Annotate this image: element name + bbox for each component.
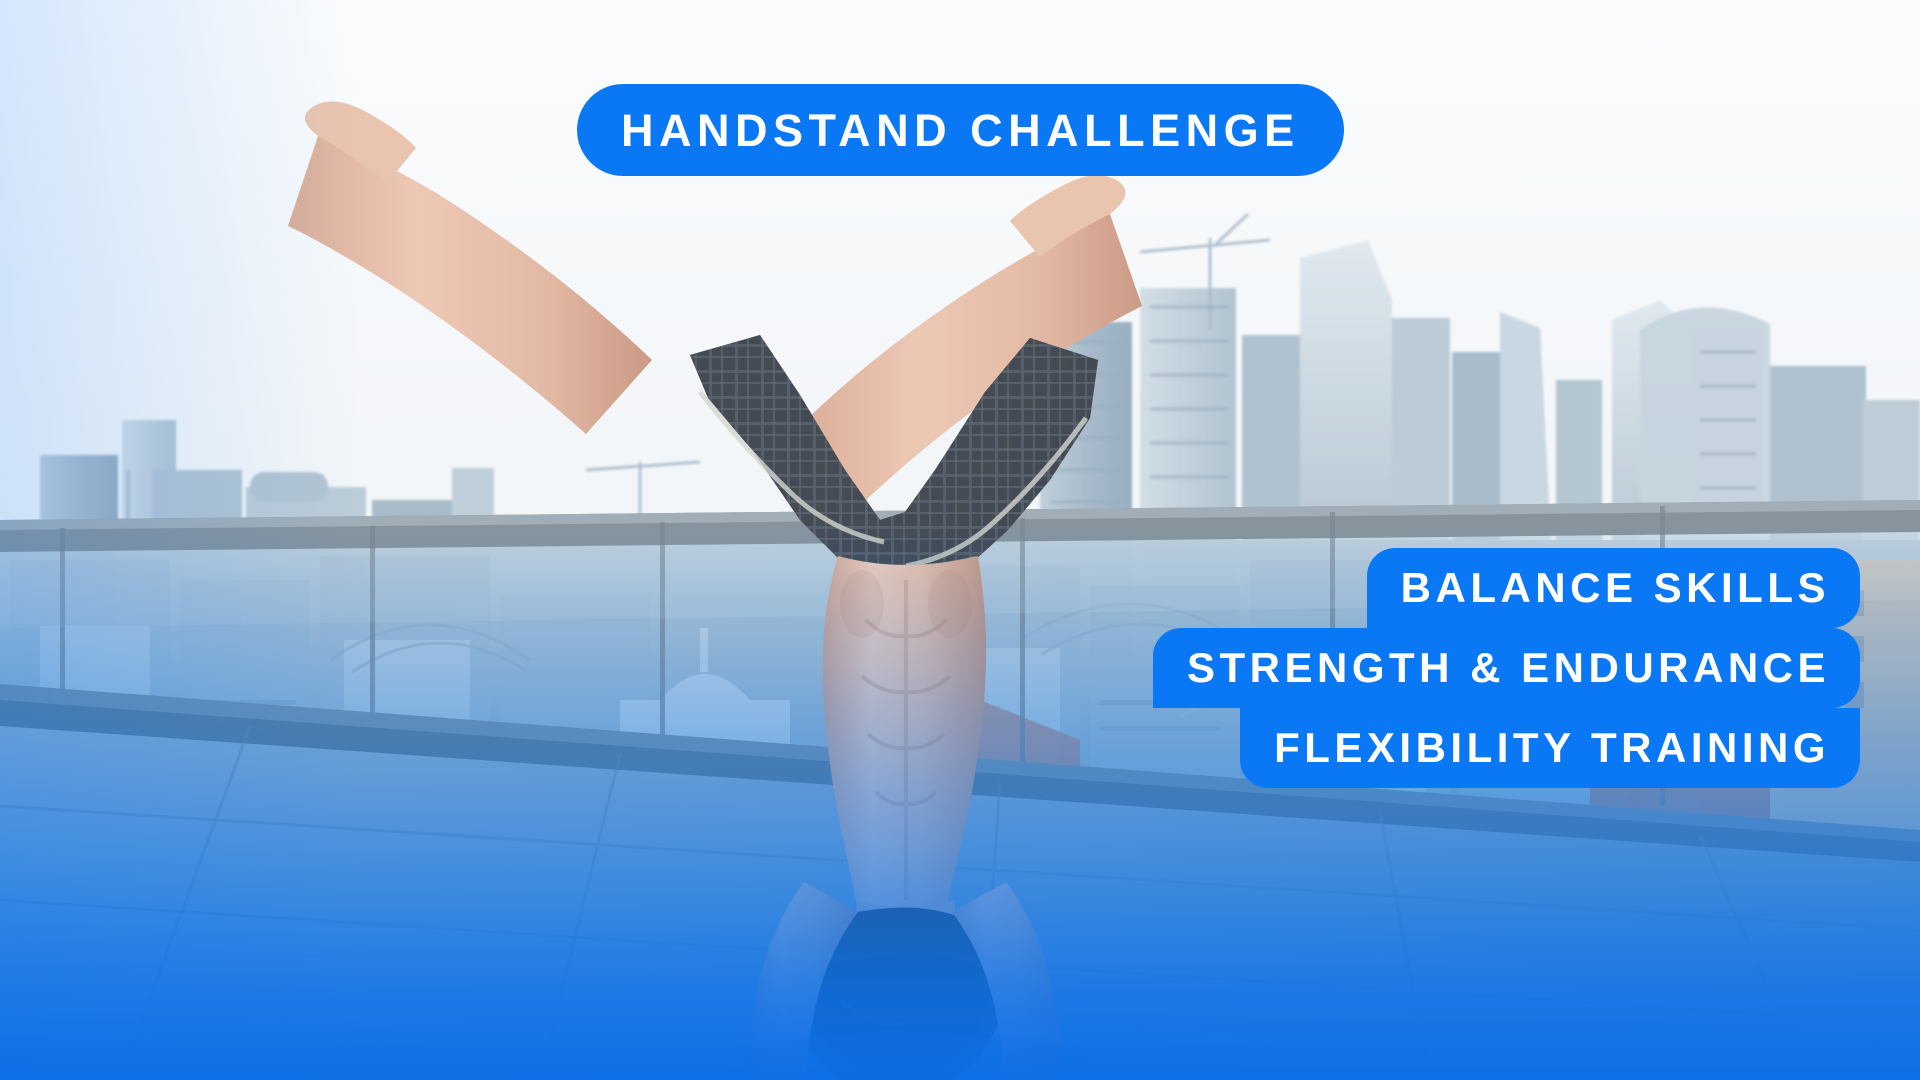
feature-list: BALANCE SKILLS STRENGTH & ENDURANCE FLEX… [1040,548,1860,788]
feature-item-strength-endurance: STRENGTH & ENDURANCE [1153,628,1860,708]
feature-item-flexibility-training: FLEXIBILITY TRAINING [1240,708,1860,788]
poster-canvas: HANDSTAND CHALLENGE BALANCE SKILLS STREN… [0,0,1920,1080]
title-badge: HANDSTAND CHALLENGE [577,84,1344,176]
feature-item-balance-skills: BALANCE SKILLS [1367,548,1860,628]
page-title: HANDSTAND CHALLENGE [621,108,1300,153]
